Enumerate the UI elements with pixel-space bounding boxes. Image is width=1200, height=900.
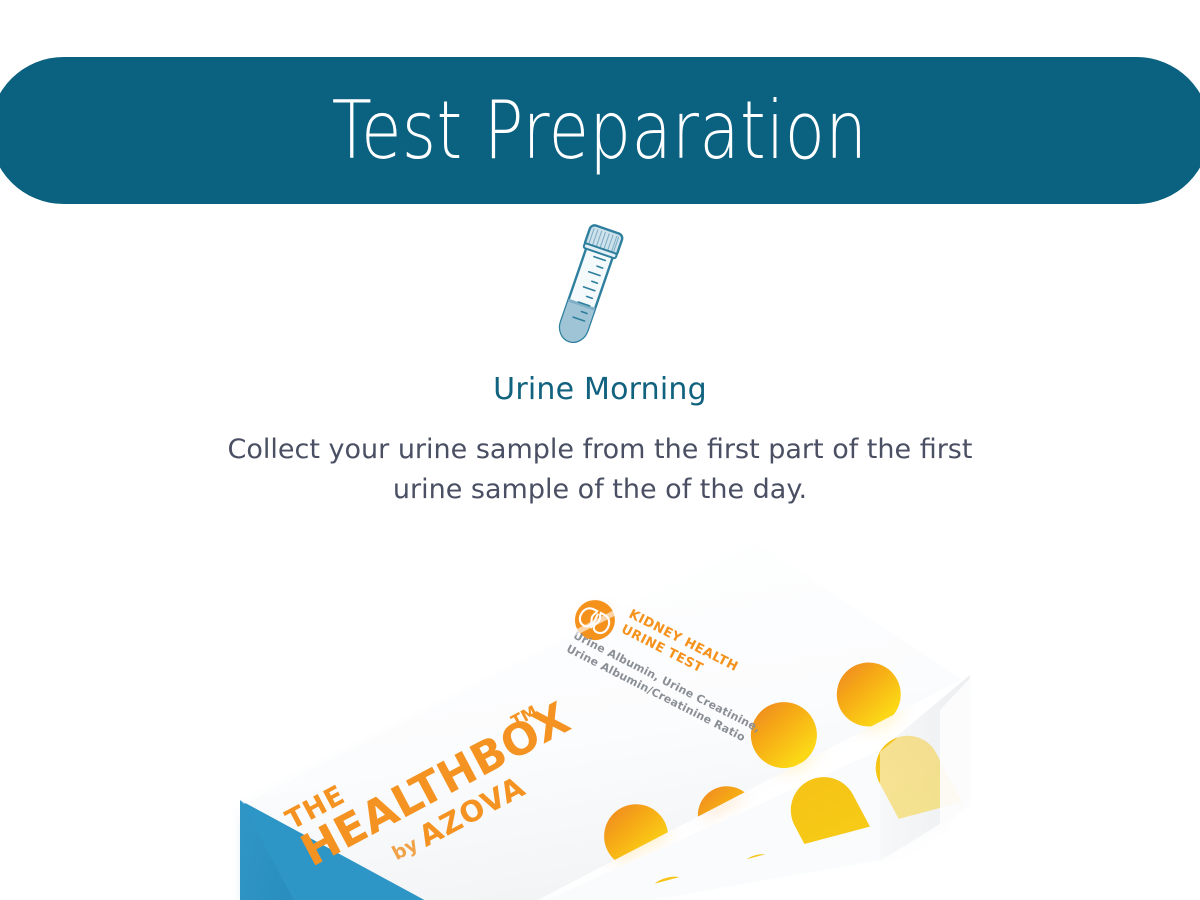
instruction-text: Collect your urine sample from the first… [210, 430, 990, 510]
product-box-image: KIDNEY HEALTH URINE TEST Urine Albumin, … [180, 500, 1040, 900]
header-banner: Test Preparation [0, 57, 1200, 204]
test-tube-icon [540, 218, 670, 360]
page-title: Test Preparation [332, 91, 868, 171]
instruction-line-1: Collect your urine sample from the first… [210, 430, 990, 470]
page-root: Test Preparation [0, 0, 1200, 900]
section-heading: Urine Morning [0, 372, 1200, 407]
